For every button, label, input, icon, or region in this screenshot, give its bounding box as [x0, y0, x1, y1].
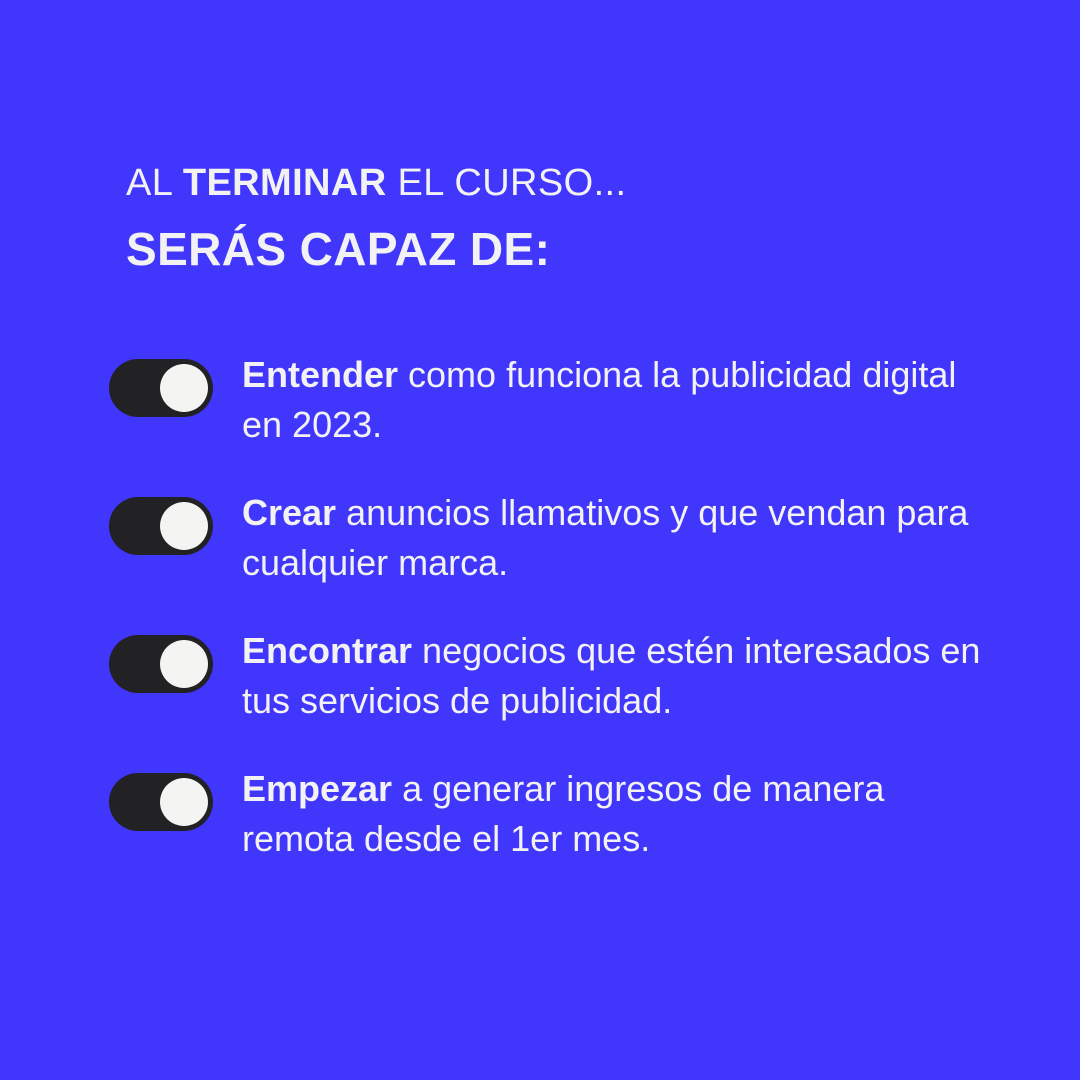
headline-line-1-suffix: EL CURSO... — [387, 162, 627, 204]
list-item: Entender como funciona la publicidad dig… — [109, 350, 1009, 450]
list-item: Crear anuncios llamativos y que vendan p… — [109, 488, 1009, 588]
toggle-switch-empezar[interactable] — [109, 773, 213, 831]
benefit-lead-word: Empezar — [242, 768, 392, 809]
headline-line-1: AL TERMINAR EL CURSO... — [126, 158, 1006, 208]
list-item: Encontrar negocios que estén interesados… — [109, 626, 1009, 726]
toggle-switch-encontrar[interactable] — [109, 635, 213, 693]
benefit-list: Entender como funciona la publicidad dig… — [109, 350, 1009, 864]
benefit-text: Entender como funciona la publicidad dig… — [242, 350, 987, 450]
toggle-knob-icon — [160, 502, 208, 550]
benefit-lead-word: Encontrar — [242, 630, 412, 671]
toggle-switch-crear[interactable] — [109, 497, 213, 555]
benefit-rest-text: anuncios llamativos y que vendan para cu… — [242, 492, 968, 583]
toggle-knob-icon — [160, 364, 208, 412]
page-title: AL TERMINAR EL CURSO... SERÁS CAPAZ DE: — [126, 158, 1006, 276]
benefit-lead-word: Entender — [242, 354, 398, 395]
toggle-knob-icon — [160, 640, 208, 688]
toggle-switch-entender[interactable] — [109, 359, 213, 417]
benefit-text: Encontrar negocios que estén interesados… — [242, 626, 987, 726]
benefit-lead-word: Crear — [242, 492, 336, 533]
toggle-knob-icon — [160, 778, 208, 826]
headline-line-1-strong: TERMINAR — [183, 162, 387, 204]
promo-slide: AL TERMINAR EL CURSO... SERÁS CAPAZ DE: … — [0, 0, 1080, 1080]
list-item: Empezar a generar ingresos de manera rem… — [109, 764, 1009, 864]
headline-line-1-prefix: AL — [126, 162, 183, 204]
benefit-text: Crear anuncios llamativos y que vendan p… — [242, 488, 987, 588]
headline-line-2: SERÁS CAPAZ DE: — [126, 222, 1006, 276]
benefit-text: Empezar a generar ingresos de manera rem… — [242, 764, 987, 864]
